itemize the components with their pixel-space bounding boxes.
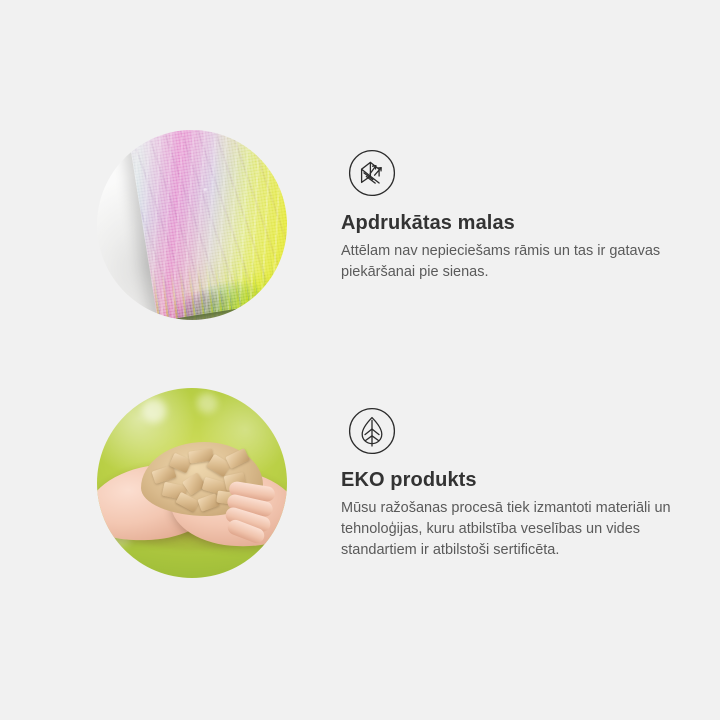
canvas-panel (125, 130, 287, 320)
feature-block-printed-edges: Apdrukātas malas Attēlam nav nepieciešam… (0, 130, 720, 326)
feature-media-column (0, 130, 341, 326)
canvas-print-corner-photo (97, 130, 287, 320)
wall-background (97, 130, 287, 320)
feature-block-eco-product: EKO produkts Mūsu ražošanas procesā tiek… (0, 388, 720, 584)
leaf-icon (348, 407, 396, 455)
feature-text-column: Apdrukātas malas Attēlam nav nepieciešam… (341, 130, 720, 283)
feature-media-column (0, 388, 341, 584)
hands-wood-chips-photo (97, 388, 287, 578)
feature-text-column: EKO produkts Mūsu ražošanas procesā tiek… (341, 388, 720, 561)
feature-title: Apdrukātas malas (341, 211, 720, 235)
product-features-panel: Apdrukātas malas Attēlam nav nepieciešam… (0, 0, 720, 720)
feature-description: Attēlam nav nepieciešams rāmis un tas ir… (341, 241, 671, 283)
grass-background (97, 388, 287, 578)
printed-edges-canvas-icon (348, 149, 396, 197)
feature-title: EKO produkts (341, 468, 720, 492)
right-hand-fingers (225, 484, 287, 540)
feature-description: Mūsu ražošanas procesā tiek izmantoti ma… (341, 498, 671, 561)
